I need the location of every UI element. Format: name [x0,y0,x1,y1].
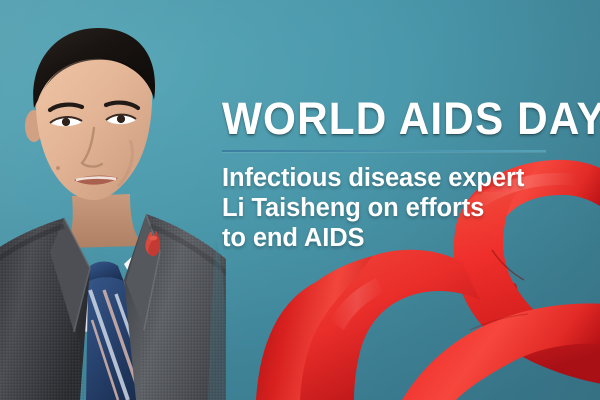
subtitle-line-3: to end AIDS [222,223,574,253]
title-divider-rule [222,150,546,152]
pupil-right [117,115,125,123]
banner-text-block: WORLD AIDS DAY Infectious disease expert… [222,96,574,253]
portrait-photo [0,0,226,400]
subtitle-line-1: Infectious disease expert [222,163,574,193]
mole [56,166,60,170]
pupil-left [62,118,70,126]
page-title: WORLD AIDS DAY [222,96,553,141]
world-aids-day-banner: WORLD AIDS DAY Infectious disease expert… [0,0,600,400]
banner-subtitle: Infectious disease expert Li Taisheng on… [222,163,574,253]
subtitle-line-2: Li Taisheng on efforts [222,193,574,223]
